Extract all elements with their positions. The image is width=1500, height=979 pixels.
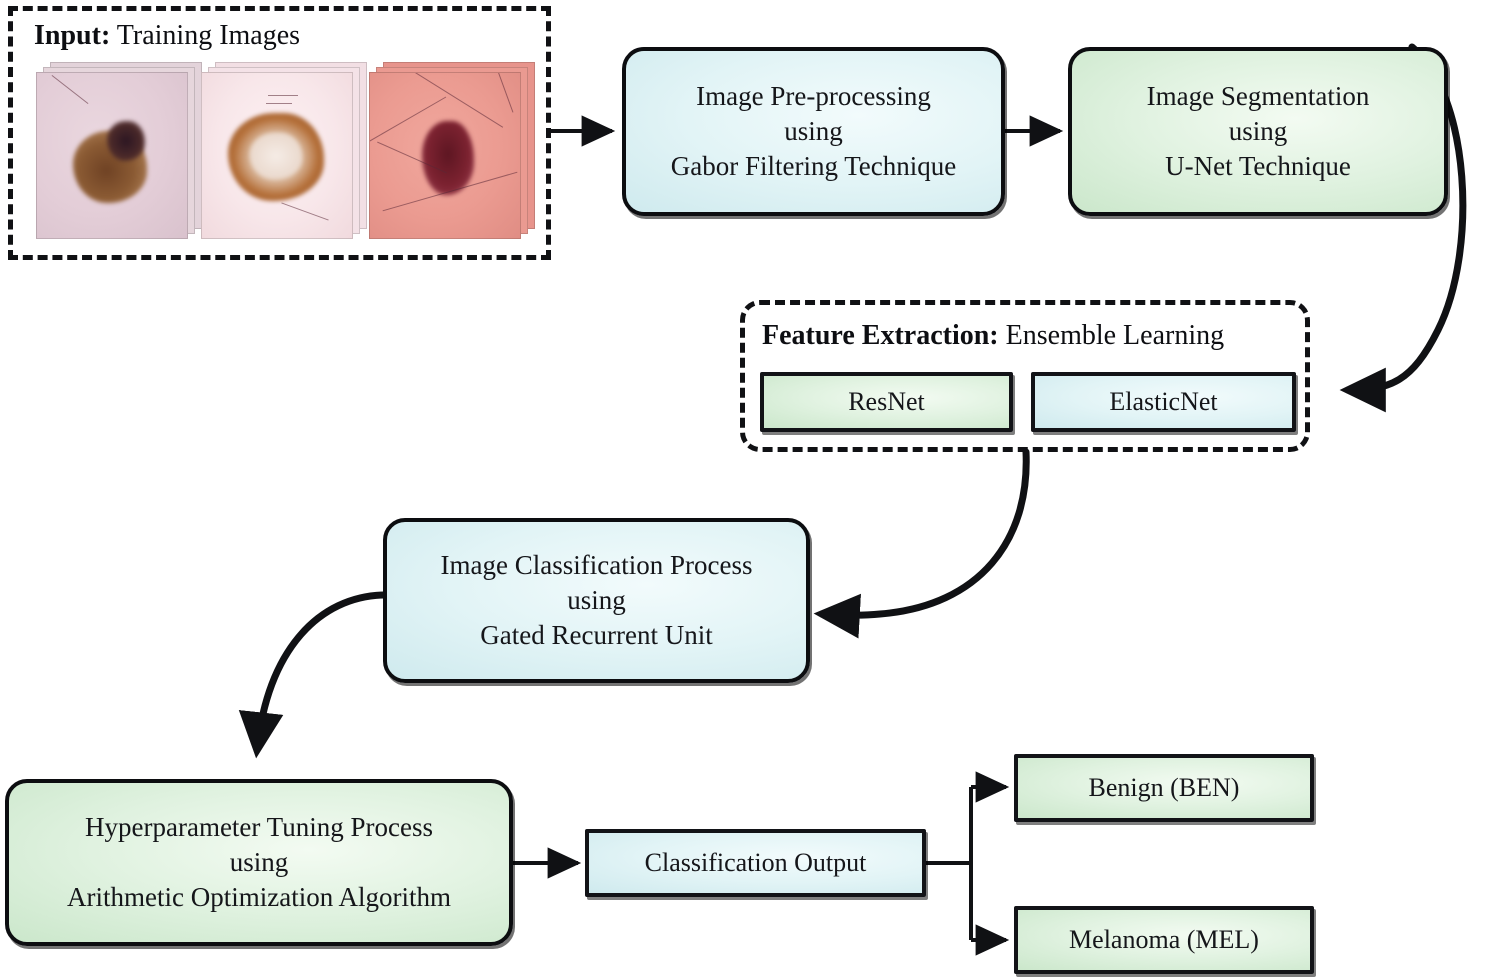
input-thumbnail-strip bbox=[36, 62, 536, 242]
hair-strand bbox=[488, 72, 513, 113]
node-preprocessing-line-2: using bbox=[671, 114, 957, 149]
node-preprocessing-text: Image Pre-processing using Gabor Filteri… bbox=[671, 79, 957, 184]
node-elasticnet[interactable]: ElasticNet bbox=[1031, 372, 1296, 432]
thumb-stack-front bbox=[201, 72, 353, 239]
node-image-classification-line-2: using bbox=[441, 583, 753, 618]
node-segmentation[interactable]: Image Segmentation using U-Net Technique bbox=[1068, 47, 1448, 216]
node-melanoma[interactable]: Melanoma (MEL) bbox=[1014, 906, 1314, 974]
node-benign[interactable]: Benign (BEN) bbox=[1014, 754, 1314, 822]
lesion-blob-dark bbox=[107, 121, 145, 161]
node-segmentation-line-2: using bbox=[1147, 114, 1370, 149]
hair-strand bbox=[268, 95, 298, 96]
node-resnet[interactable]: ResNet bbox=[760, 372, 1013, 432]
node-hyperparameter-tuning-line-3: Arithmetic Optimization Algorithm bbox=[67, 880, 451, 915]
dermoscopy-sample-3 bbox=[369, 62, 536, 242]
hair-strand bbox=[401, 72, 503, 128]
node-hyperparameter-tuning-line-1: Hyperparameter Tuning Process bbox=[67, 810, 451, 845]
node-classification-output[interactable]: Classification Output bbox=[585, 829, 926, 897]
node-segmentation-line-1: Image Segmentation bbox=[1147, 79, 1370, 114]
edge-classification-to-hyperparameter bbox=[257, 595, 383, 750]
node-image-classification-line-3: Gated Recurrent Unit bbox=[441, 618, 753, 653]
node-elasticnet-label: ElasticNet bbox=[1109, 385, 1217, 419]
node-preprocessing-line-1: Image Pre-processing bbox=[671, 79, 957, 114]
node-classification-output-label: Classification Output bbox=[645, 846, 867, 880]
hair-strand bbox=[266, 103, 292, 104]
edge-classification-output-branch bbox=[926, 787, 1006, 940]
thumb-stack-front bbox=[369, 72, 521, 239]
node-preprocessing-line-3: Gabor Filtering Technique bbox=[671, 149, 957, 184]
dermoscopy-sample-2 bbox=[201, 62, 368, 242]
node-image-classification-line-1: Image Classification Process bbox=[441, 548, 753, 583]
edge-feature-extraction-to-classification bbox=[822, 452, 1026, 615]
node-melanoma-label: Melanoma (MEL) bbox=[1069, 923, 1259, 957]
lesion-blob-center bbox=[250, 133, 302, 179]
flowchart-canvas: Input: Training Images bbox=[0, 0, 1500, 979]
node-benign-label: Benign (BEN) bbox=[1089, 771, 1240, 805]
node-hyperparameter-tuning-line-2: using bbox=[67, 845, 451, 880]
node-image-classification[interactable]: Image Classification Process using Gated… bbox=[383, 518, 810, 683]
node-hyperparameter-tuning-text: Hyperparameter Tuning Process using Arit… bbox=[67, 810, 451, 915]
node-hyperparameter-tuning[interactable]: Hyperparameter Tuning Process using Arit… bbox=[5, 779, 513, 946]
hair-strand bbox=[282, 202, 329, 220]
lesion-blob-main bbox=[422, 121, 474, 195]
thumb-stack-front bbox=[36, 72, 188, 239]
node-resnet-label: ResNet bbox=[848, 385, 925, 419]
hair-strand bbox=[52, 75, 89, 104]
node-segmentation-line-3: U-Net Technique bbox=[1147, 149, 1370, 184]
dermoscopy-sample-1 bbox=[36, 62, 201, 242]
node-preprocessing[interactable]: Image Pre-processing using Gabor Filteri… bbox=[622, 47, 1005, 216]
node-segmentation-text: Image Segmentation using U-Net Technique bbox=[1147, 79, 1370, 184]
node-image-classification-text: Image Classification Process using Gated… bbox=[441, 548, 753, 653]
